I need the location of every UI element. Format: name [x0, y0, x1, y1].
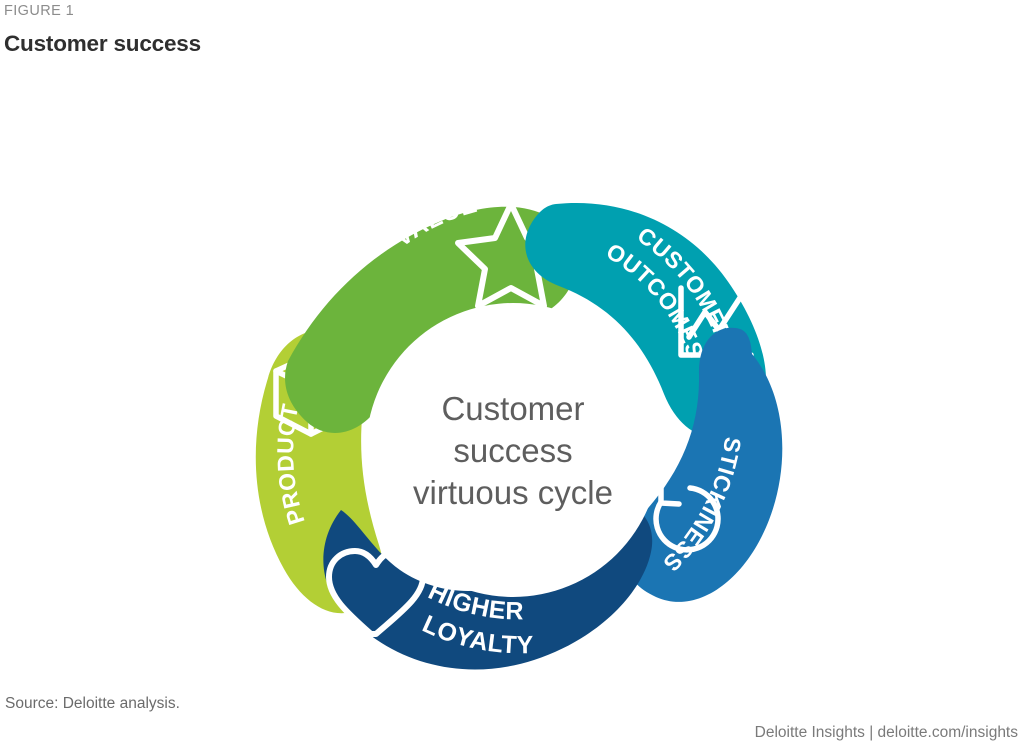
insights-credit: Deloitte Insights | deloitte.com/insight… [755, 724, 1018, 742]
cycle-diagram-svg: PRODUCT VALUE C [0, 72, 1024, 672]
figure-header: FIGURE 1 Customer success [4, 0, 201, 59]
figure-eyebrow: FIGURE 1 [4, 0, 201, 22]
center-text-line-2: success [453, 432, 572, 469]
center-text-line-1: Customer [441, 390, 584, 427]
cycle-diagram: PRODUCT VALUE C [0, 72, 1024, 672]
page-title: Customer success [4, 29, 201, 59]
center-text-line-3: virtuous cycle [413, 474, 613, 511]
source-note: Source: Deloitte analysis. [5, 695, 180, 713]
